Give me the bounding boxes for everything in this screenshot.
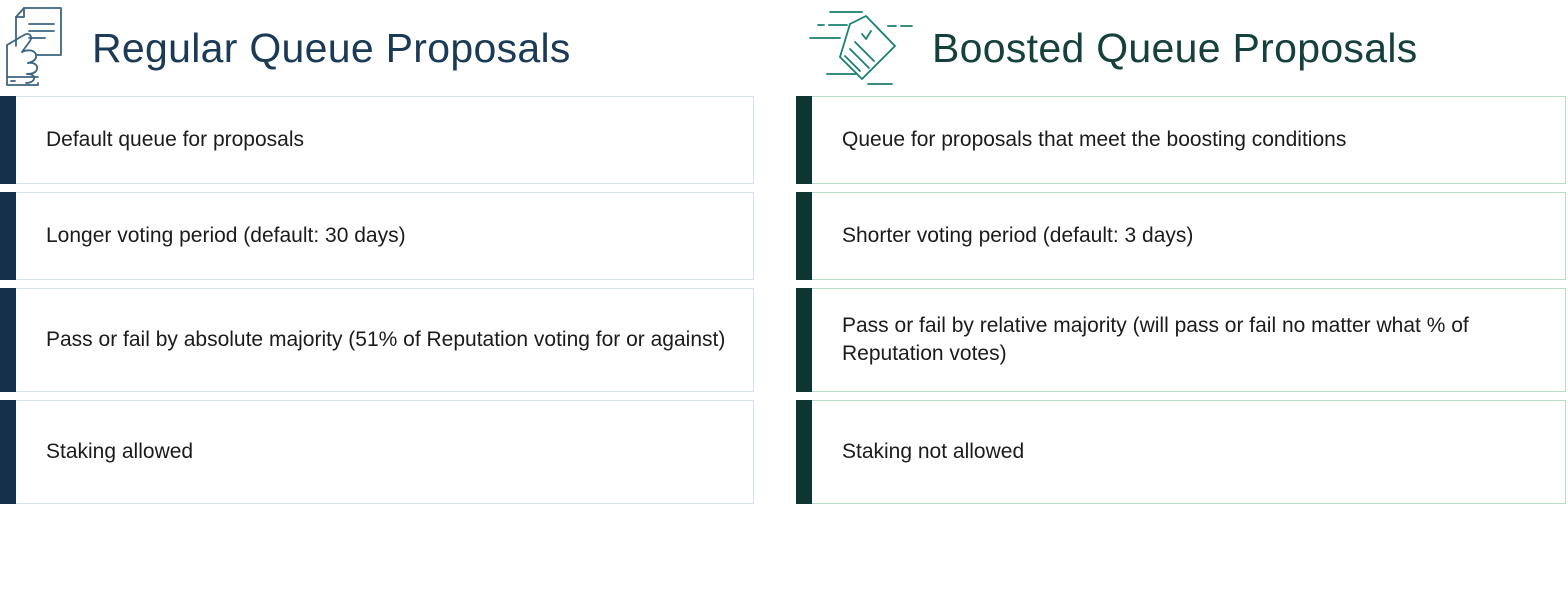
list-item: Staking not allowed — [796, 400, 1566, 504]
card-body: Staking allowed — [16, 400, 754, 504]
card-accent-bar — [0, 192, 16, 280]
page-title: Regular Queue Proposals — [92, 28, 571, 69]
regular-queue-column: Regular Queue Proposals Default queue fo… — [0, 0, 784, 504]
card-accent-bar — [0, 96, 16, 184]
boosted-queue-header: Boosted Queue Proposals — [784, 0, 1568, 96]
boosted-queue-card-list: Queue for proposals that meet the boosti… — [784, 96, 1568, 504]
queue-comparison-board: Regular Queue Proposals Default queue fo… — [0, 0, 1568, 597]
card-body: Shorter voting period (default: 3 days) — [812, 192, 1566, 280]
card-text: Queue for proposals that meet the boosti… — [842, 126, 1346, 154]
boosted-queue-column: Boosted Queue Proposals Queue for propos… — [784, 0, 1568, 504]
card-accent-bar — [796, 96, 812, 184]
list-item: Queue for proposals that meet the boosti… — [796, 96, 1566, 184]
card-body: Queue for proposals that meet the boosti… — [812, 96, 1566, 184]
list-item: Staking allowed — [0, 400, 754, 504]
card-text: Default queue for proposals — [46, 126, 304, 154]
card-accent-bar — [796, 400, 812, 504]
card-body: Pass or fail by relative majority (will … — [812, 288, 1566, 392]
card-accent-bar — [796, 288, 812, 392]
list-item: Longer voting period (default: 30 days) — [0, 192, 754, 280]
regular-queue-header: Regular Queue Proposals — [0, 0, 784, 96]
card-text: Staking allowed — [46, 438, 193, 466]
card-body: Longer voting period (default: 30 days) — [16, 192, 754, 280]
flying-document-speed-lines-icon — [800, 8, 918, 88]
list-item: Shorter voting period (default: 3 days) — [796, 192, 1566, 280]
card-accent-bar — [0, 400, 16, 504]
card-text: Pass or fail by relative majority (will … — [842, 312, 1547, 369]
card-accent-bar — [796, 192, 812, 280]
hand-holding-document-icon — [2, 5, 80, 91]
card-text: Shorter voting period (default: 3 days) — [842, 222, 1193, 250]
card-body: Staking not allowed — [812, 400, 1566, 504]
card-text: Longer voting period (default: 30 days) — [46, 222, 406, 250]
card-accent-bar — [0, 288, 16, 392]
card-text: Pass or fail by absolute majority (51% o… — [46, 326, 725, 354]
list-item: Default queue for proposals — [0, 96, 754, 184]
card-body: Default queue for proposals — [16, 96, 754, 184]
card-body: Pass or fail by absolute majority (51% o… — [16, 288, 754, 392]
page-title: Boosted Queue Proposals — [932, 28, 1418, 69]
list-item: Pass or fail by absolute majority (51% o… — [0, 288, 754, 392]
card-text: Staking not allowed — [842, 438, 1024, 466]
list-item: Pass or fail by relative majority (will … — [796, 288, 1566, 392]
regular-queue-card-list: Default queue for proposals Longer votin… — [0, 96, 784, 504]
